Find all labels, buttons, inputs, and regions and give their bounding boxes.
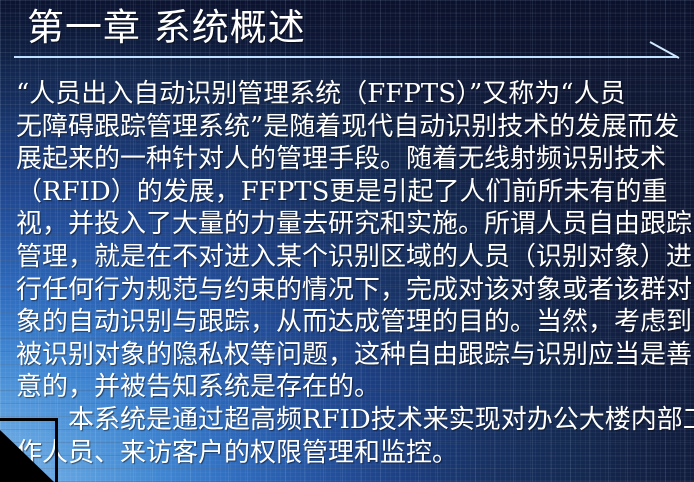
slide-body-text: “人员出入自动识别管理系统（FFPTS）”又称为“人员 无障碍跟踪管理系统”是随…: [16, 78, 682, 469]
corner-horizontal-rule: [0, 418, 58, 421]
body-line: 作人员、来访客户的权限管理和监控。: [16, 437, 682, 470]
presentation-slide: 第一章 系统概述 “人员出入自动识别管理系统（FFPTS）”又称为“人员 无障碍…: [0, 0, 694, 482]
body-line: 无障碍跟踪管理系统”是随着现代自动识别技术的发展而发: [16, 111, 682, 144]
body-line: 被识别对象的隐私权等问题，这种自由跟踪与识别应当是善: [16, 339, 682, 372]
page-title: 第一章 系统概述: [27, 4, 306, 52]
arrow-tip-icon: [648, 41, 682, 61]
body-line: “人员出入自动识别管理系统（FFPTS）”又称为“人员: [16, 78, 682, 111]
body-line: 管理，就是在不对进入某个识别区域的人员（识别对象）进: [16, 241, 682, 274]
slide-title-block: 第一章 系统概述: [0, 0, 694, 66]
corner-bracket-ornament: [0, 418, 62, 482]
corner-vertical-rule: [55, 418, 58, 482]
corner-triangle-shape: [0, 430, 54, 482]
body-line: 行任何行为规范与约束的情况下，完成对该对象或者该群对: [16, 274, 682, 307]
body-line: 展起来的一种针对人的管理手段。随着无线射频识别技术: [16, 143, 682, 176]
title-divider-line: [14, 56, 678, 58]
body-line: 视，并投入了大量的力量去研究和实施。所谓人员自由跟踪: [16, 208, 682, 241]
body-line: 象的自动识别与跟踪，从而达成管理的目的。当然，考虑到: [16, 306, 682, 339]
body-line: 意的，并被告知系统是存在的。: [16, 371, 682, 404]
body-line: （RFID）的发展，FFPTS更是引起了人们前所未有的重: [16, 176, 682, 209]
body-line: 本系统是通过超高频RFID技术来实现对办公大楼内部工: [16, 404, 682, 437]
